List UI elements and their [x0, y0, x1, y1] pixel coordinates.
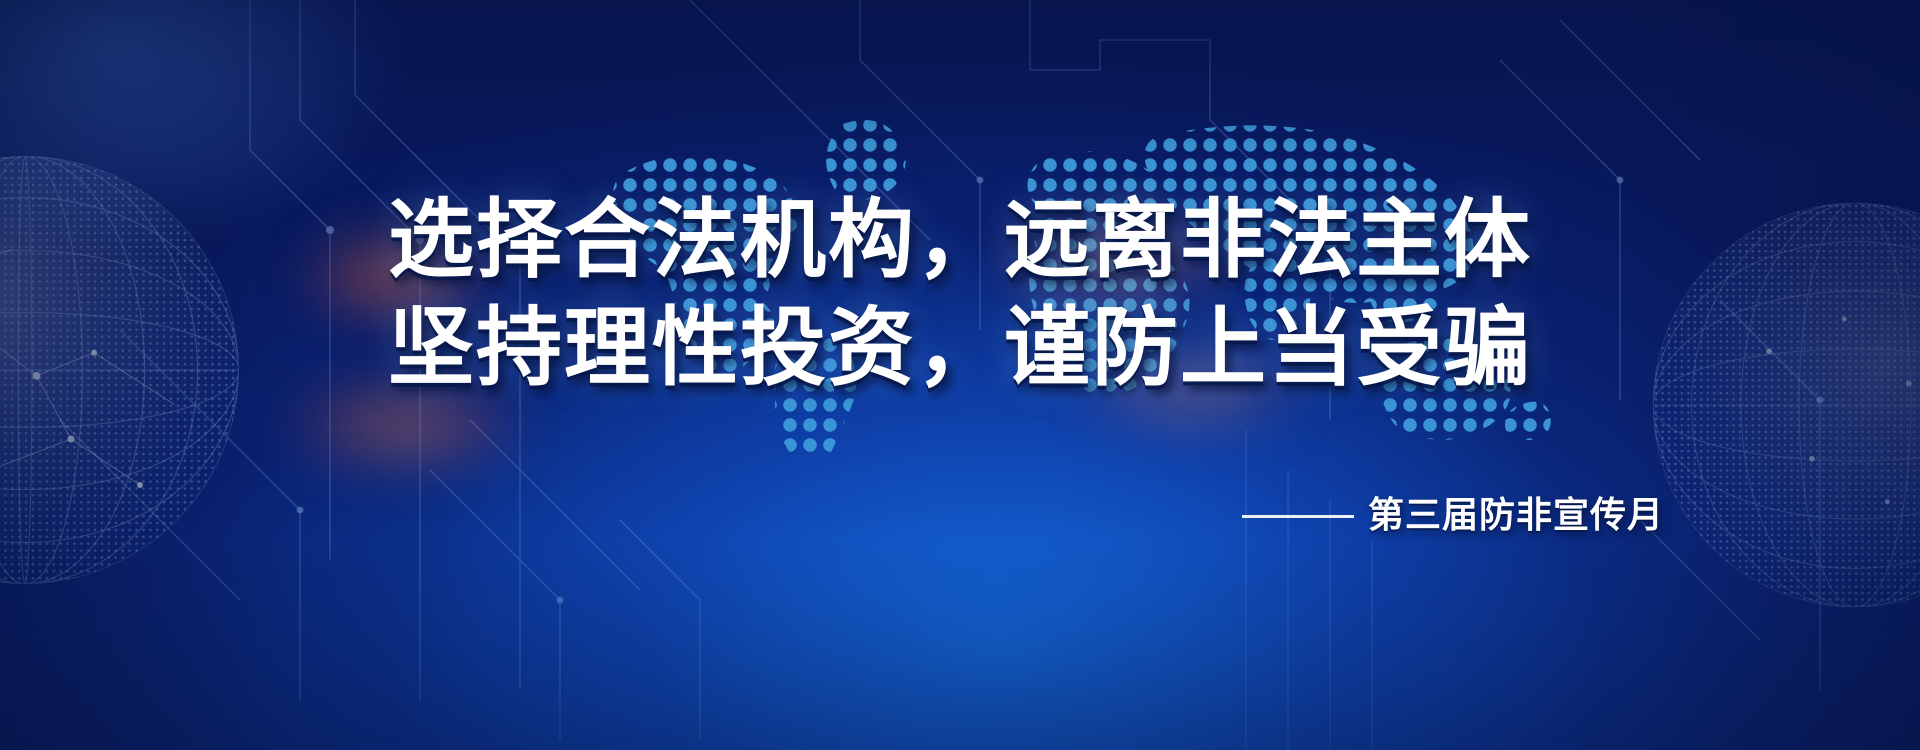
headline-line-1: 选择合法机构，远离非法主体	[0, 186, 1920, 294]
attribution: 第三届防非宣传月	[1242, 494, 1664, 538]
headline-line-2: 坚持理性投资，谨防上当受骗	[0, 294, 1920, 402]
attribution-text: 第三届防非宣传月	[1368, 494, 1664, 538]
attribution-dash-icon	[1242, 515, 1354, 518]
headline-block: 选择合法机构，远离非法主体 坚持理性投资，谨防上当受骗	[0, 186, 1920, 402]
promo-banner: 选择合法机构，远离非法主体 坚持理性投资，谨防上当受骗 第三届防非宣传月	[0, 0, 1920, 750]
